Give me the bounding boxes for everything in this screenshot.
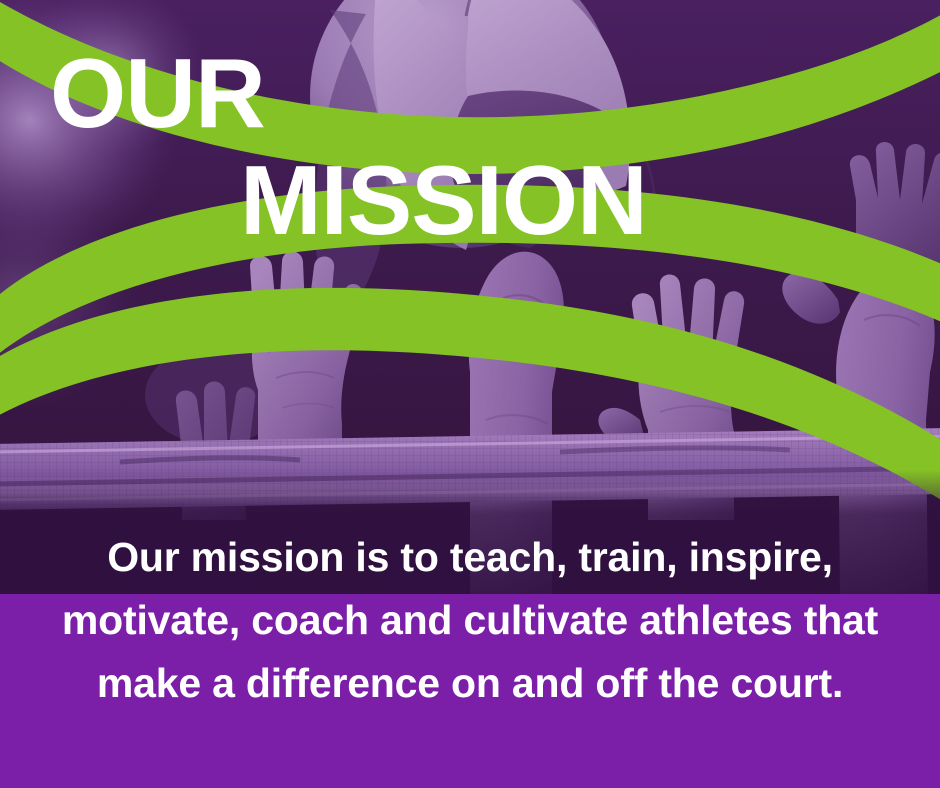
- poster-artwork: [0, 0, 940, 788]
- text-scrim: [0, 470, 940, 596]
- poster-canvas: OUR MISSION Our mission is to teach, tra…: [0, 0, 940, 788]
- mission-band: [0, 594, 940, 788]
